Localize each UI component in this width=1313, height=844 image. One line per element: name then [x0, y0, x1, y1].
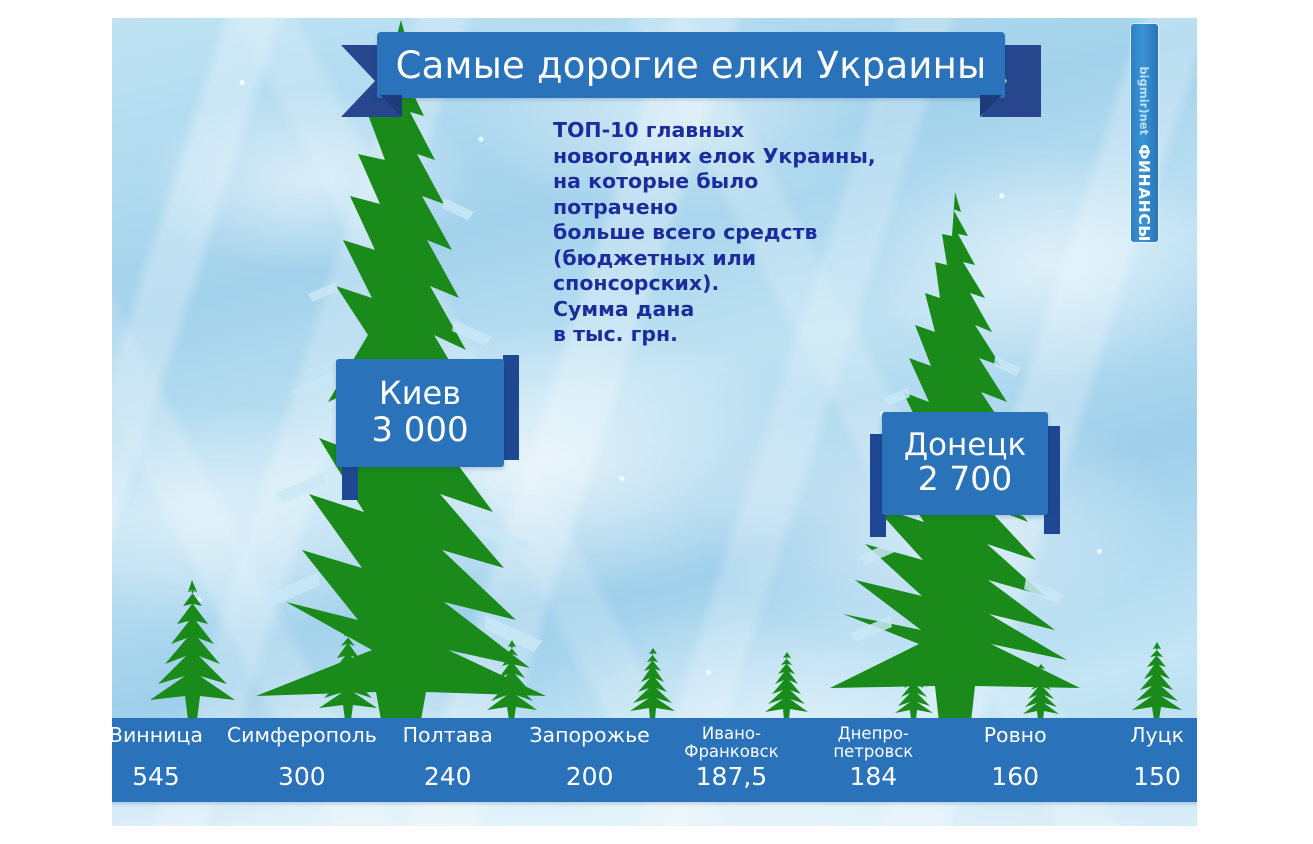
city-cell: Полтава240 [377, 718, 519, 802]
small-tree-dnepropetrovsk [892, 660, 936, 720]
small-tree-ivano-frankovsk [762, 652, 812, 720]
page-title: Самые дорогие елки Украины [396, 47, 987, 84]
logo-sub-text: bigmir)net [1138, 66, 1152, 135]
city-cell: Днепро- петровск184 [802, 718, 944, 802]
city-cell: Ровно160 [944, 718, 1086, 802]
city-value: 187,5 [696, 764, 768, 789]
kiev-city-value: 3 000 [371, 411, 468, 449]
city-name: Луцк [1130, 725, 1184, 746]
city-name: Днепро- петровск [833, 725, 913, 761]
small-tree-poltava [483, 640, 541, 720]
bottom-ribbon-band: Винница545Симферополь300Полтава240Запоро… [85, 718, 1228, 802]
kiev-sign-post-right [503, 355, 519, 460]
canvas-gutter-top [0, 0, 1313, 18]
city-name: Винница [109, 725, 203, 746]
canvas-gutter-bottom [0, 826, 1313, 844]
city-name: Ивано- Франковск [684, 725, 778, 761]
logo-inner: ФИНАНСЫ bigmir)net [1131, 24, 1158, 242]
small-tree-zaporozhye [627, 648, 679, 720]
donetsk-sign-board: Донецк 2 700 [882, 412, 1048, 515]
city-cell: Симферополь300 [227, 718, 377, 802]
city-name: Симферополь [227, 725, 377, 746]
logo-brand-text: ФИНАНСЫ [1136, 144, 1154, 242]
city-cell: Ивано- Франковск187,5 [661, 718, 803, 802]
city-value: 545 [132, 764, 180, 789]
city-value: 184 [849, 764, 897, 789]
kiev-sign-board: Киев 3 000 [336, 359, 504, 467]
city-name: Запорожье [529, 725, 649, 746]
title-ribbon-band: Самые дорогие елки Украины [377, 32, 1005, 98]
city-value: 300 [278, 764, 326, 789]
description-text: ТОП-10 главных новогодних елок Украины, … [553, 118, 883, 348]
city-value: 160 [991, 764, 1039, 789]
donetsk-city-value: 2 700 [918, 461, 1012, 498]
city-name: Ровно [984, 725, 1047, 746]
city-value: 240 [424, 764, 472, 789]
small-tree-lutsk [1128, 642, 1186, 720]
small-tree-simferopol [314, 628, 382, 720]
canvas-gutter-left [0, 0, 112, 844]
canvas-gutter-right [1197, 0, 1313, 844]
bigmir-finance-logo[interactable]: ФИНАНСЫ bigmir)net [1131, 24, 1158, 242]
city-cell: Запорожье200 [519, 718, 661, 802]
small-tree-vinnitsa [140, 580, 245, 720]
kiev-city-name: Киев [379, 377, 461, 410]
city-name: Полтава [403, 725, 493, 746]
title-ribbon: Самые дорогие елки Украины [341, 32, 1041, 112]
city-sign-donetsk: Донецк 2 700 [866, 408, 1064, 548]
bottom-city-ribbon: Винница545Симферополь300Полтава240Запоро… [0, 712, 1313, 820]
donetsk-city-name: Донецк [904, 429, 1026, 461]
infographic-canvas: Самые дорогие елки Украины ТОП-10 главны… [0, 0, 1313, 844]
city-value: 150 [1133, 764, 1181, 789]
city-value: 200 [566, 764, 614, 789]
city-sign-kiev: Киев 3 000 [318, 355, 524, 500]
